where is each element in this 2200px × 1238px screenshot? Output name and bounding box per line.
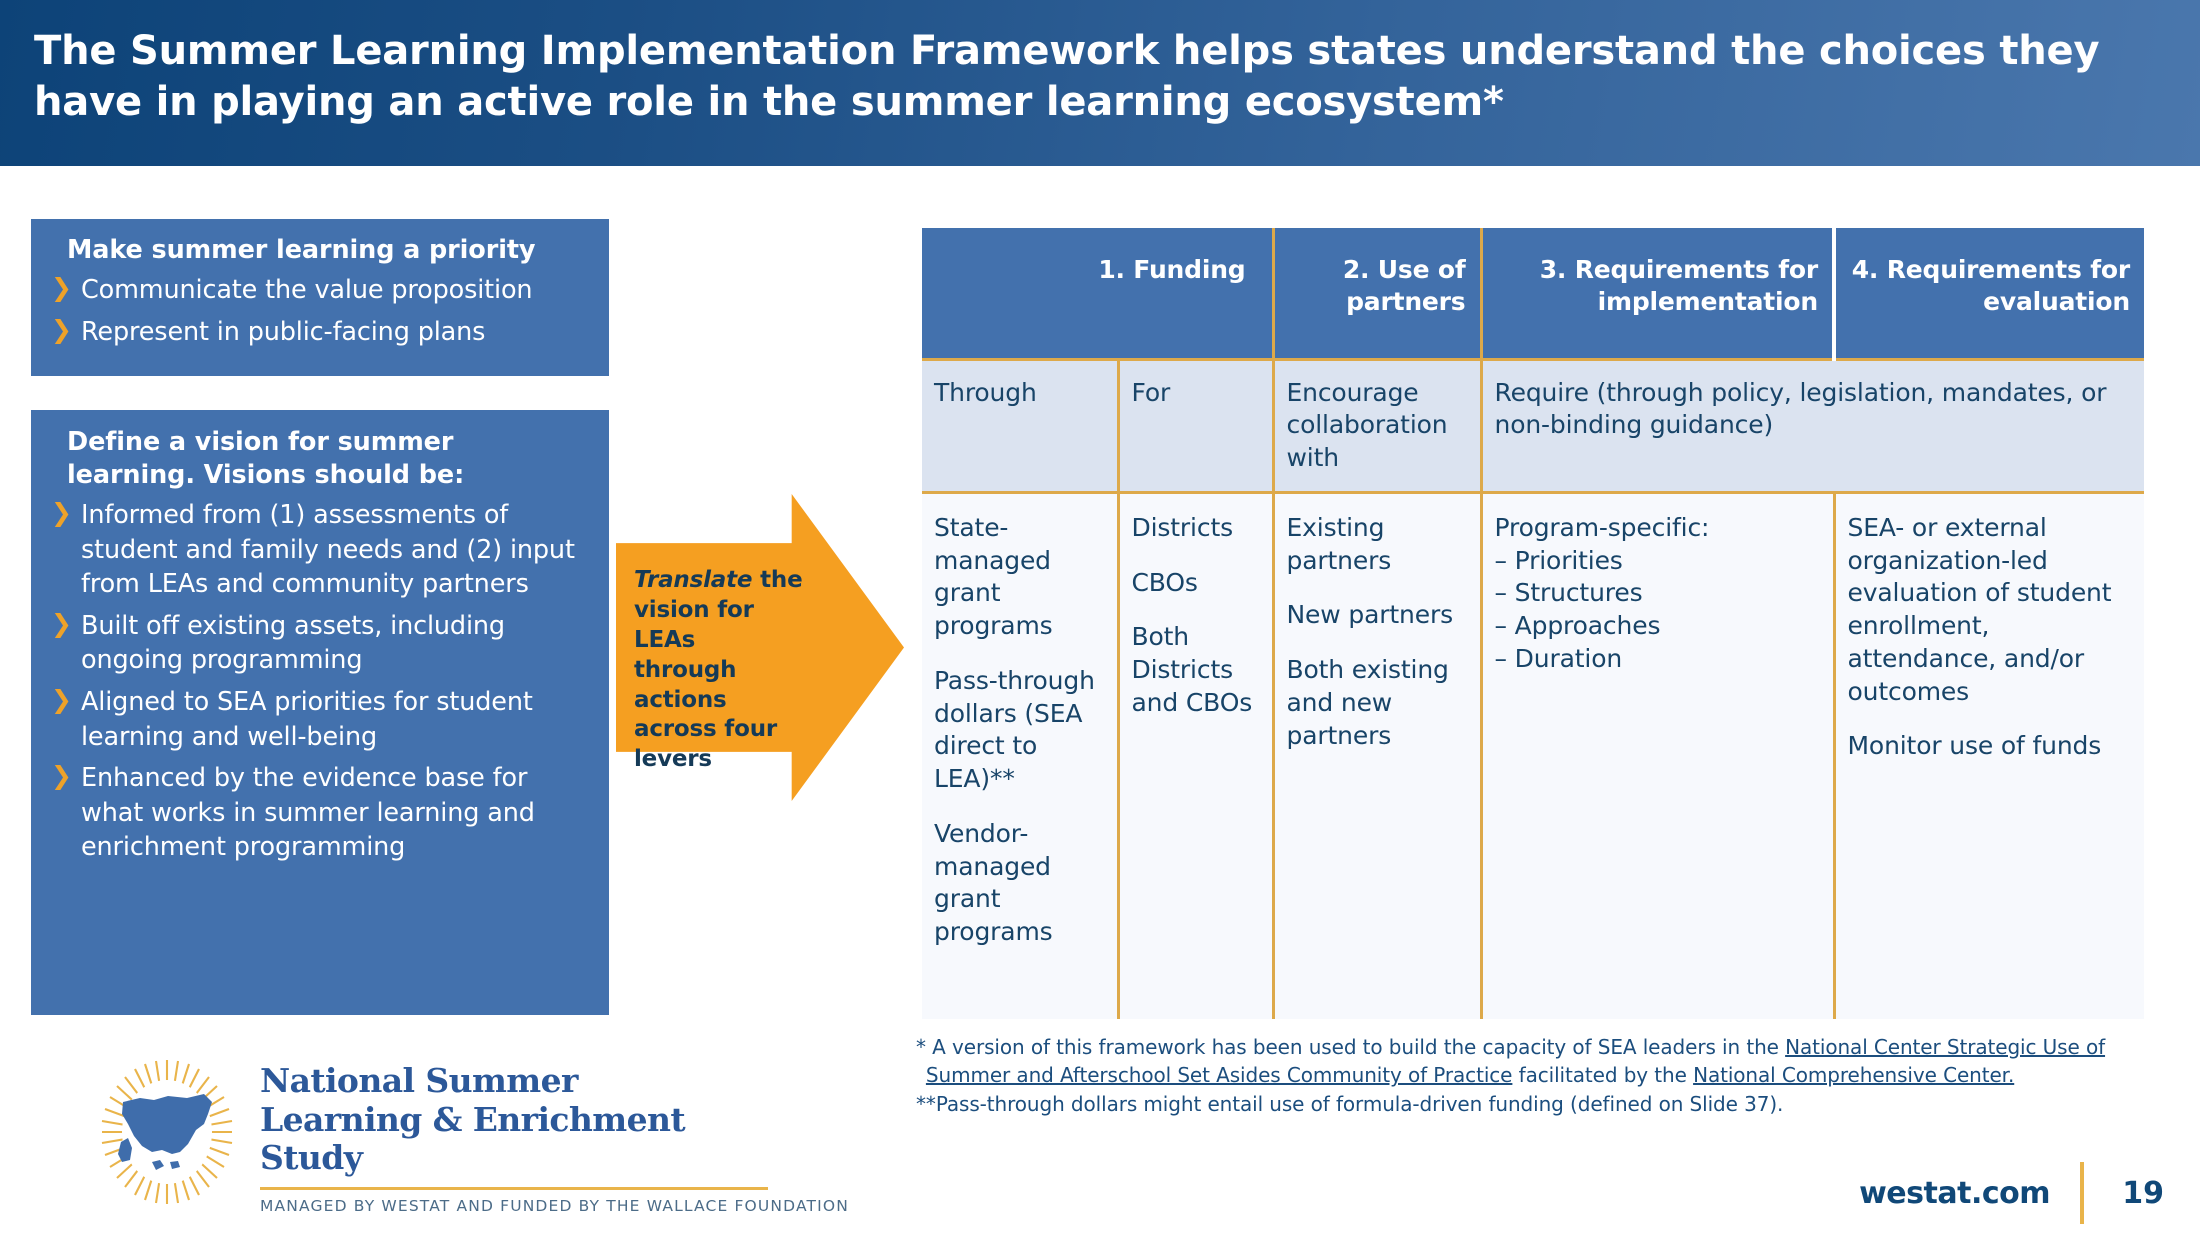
vision-box-heading: Define a vision for summer learning. Vis…	[67, 426, 589, 492]
vision-callout-box: Define a vision for summer learning. Vis…	[31, 410, 609, 1015]
list-item-label: Aligned to SEA priorities for student le…	[81, 687, 533, 752]
priority-box-heading: Make summer learning a priority	[67, 234, 589, 267]
list-item: ❯ Represent in public-facing plans	[51, 315, 589, 350]
recipient-option-1: Districts	[1132, 513, 1233, 542]
cell-funding-for-options: Districts CBOs Both Districts and CBOs	[1118, 492, 1273, 1019]
funding-option-3: Vendor-managed grant programs	[934, 819, 1053, 946]
table-header-funding: 1. Funding	[922, 228, 1273, 359]
chevron-right-icon: ❯	[51, 762, 69, 790]
list-item-label: Represent in public-facing plans	[81, 317, 485, 347]
spacer	[934, 643, 1105, 665]
cell-for: For	[1118, 359, 1273, 492]
spacer	[1132, 545, 1260, 567]
evaluation-text-1: SEA- or external organization-led evalua…	[1848, 513, 2112, 706]
footnote-double-asterisk: ** Pass-through dollars might entail use…	[916, 1090, 2146, 1118]
list-item-label: Enhanced by the evidence base for what w…	[81, 763, 535, 862]
cell-funding-through-options: State-managed grant programs Pass-throug…	[922, 492, 1118, 1019]
list-item: – Duration	[1495, 643, 1821, 676]
footnotes-block: * A version of this framework has been u…	[916, 1033, 2146, 1118]
cell-implementation-requirements: Program-specific: – Priorities – Structu…	[1481, 492, 1834, 1019]
footnote-marker: *	[916, 1033, 926, 1090]
table-row: State-managed grant programs Pass-throug…	[922, 492, 2144, 1019]
implementation-item-list: – Priorities – Structures – Approaches –…	[1495, 545, 1821, 676]
list-item-label: Built off existing assets, including ong…	[81, 611, 505, 676]
priority-bullet-list: ❯ Communicate the value proposition ❯ Re…	[51, 273, 589, 349]
footnote-text: A version of this framework has been use…	[926, 1033, 2146, 1090]
logo-line-2: Learning & Enrichment Study	[260, 1101, 770, 1178]
footnote-lead-text: A version of this framework has been use…	[932, 1035, 1785, 1059]
cell-require: Require (through policy, legislation, ma…	[1481, 359, 2144, 492]
chevron-right-icon: ❯	[51, 316, 69, 344]
list-item: ❯ Enhanced by the evidence base for what…	[51, 761, 589, 865]
chevron-right-icon: ❯	[51, 686, 69, 714]
slide-number: 19	[2122, 1176, 2164, 1211]
arrow-rest-text: the vision for LEAs through actions acro…	[634, 567, 802, 772]
cell-evaluation-requirements: SEA- or external organization-led evalua…	[1834, 492, 2144, 1019]
spacer	[1848, 708, 2133, 730]
cell-encourage: Encourage collaboration with	[1273, 359, 1481, 492]
logo-tagline: MANAGED BY WESTAT AND FUNDED BY THE WALL…	[260, 1197, 770, 1215]
slide-footer: westat.com 19	[1859, 1162, 2164, 1224]
list-item: ❯ Communicate the value proposition	[51, 273, 589, 308]
footnote-link-comprehensive-center[interactable]: National Comprehensive Center.	[1693, 1063, 2014, 1087]
table-row: Through For Encourage collaboration with…	[922, 359, 2144, 492]
funding-option-2: Pass-through dollars (SEA direct to LEA)…	[934, 666, 1095, 793]
logo-wordmark: National Summer Learning & Enrichment St…	[260, 1062, 770, 1215]
spacer	[1132, 599, 1260, 621]
cell-through: Through	[922, 359, 1118, 492]
chevron-right-icon: ❯	[51, 274, 69, 302]
table-header-requirements-implementation: 3. Requirements for implementation	[1481, 228, 1834, 359]
footer-divider	[2080, 1162, 2084, 1224]
framework-levers-table: 1. Funding 2. Use of partners 3. Require…	[922, 228, 2144, 1019]
recipient-option-2: CBOs	[1132, 568, 1198, 597]
cell-partner-options: Existing partners New partners Both exis…	[1273, 492, 1481, 1019]
page-title: The Summer Learning Implementation Frame…	[34, 26, 2144, 128]
table-header-row: 1. Funding 2. Use of partners 3. Require…	[922, 228, 2144, 359]
partner-option-1: Existing partners	[1287, 513, 1392, 575]
recipient-option-3: Both Districts and CBOs	[1132, 622, 1253, 717]
partner-option-2: New partners	[1287, 600, 1453, 629]
arrow-label: Translate the vision for LEAs through ac…	[634, 566, 804, 775]
footnote-mid-text: facilitated by the	[1512, 1063, 1693, 1087]
westat-url-link[interactable]: westat.com	[1859, 1176, 2050, 1211]
list-item: – Structures	[1495, 577, 1821, 610]
implementation-intro: Program-specific:	[1495, 513, 1710, 542]
list-item: ❯ Informed from (1) assessments of stude…	[51, 498, 589, 602]
list-item: – Priorities	[1495, 545, 1821, 578]
list-item-label: Informed from (1) assessments of student…	[81, 500, 575, 599]
list-item: ❯ Aligned to SEA priorities for student …	[51, 685, 589, 754]
vision-bullet-list: ❯ Informed from (1) assessments of stude…	[51, 498, 589, 864]
logo-line-1: National Summer	[260, 1062, 770, 1101]
logo-divider	[260, 1187, 768, 1190]
slide-title-banner: The Summer Learning Implementation Frame…	[0, 0, 2200, 166]
spacer	[934, 796, 1105, 818]
chevron-right-icon: ❯	[51, 499, 69, 527]
spacer	[1287, 632, 1468, 654]
footnote-single-asterisk: * A version of this framework has been u…	[916, 1033, 2146, 1090]
funding-option-1: State-managed grant programs	[934, 513, 1053, 640]
evaluation-text-2: Monitor use of funds	[1848, 731, 2102, 760]
spacer	[1287, 577, 1468, 599]
table-header-requirements-evaluation: 4. Requirements for evaluation	[1834, 228, 2144, 359]
list-item: ❯ Built off existing assets, including o…	[51, 609, 589, 678]
footnote-marker: **	[916, 1090, 936, 1118]
priority-callout-box: Make summer learning a priority ❯ Commun…	[31, 219, 609, 376]
usa-map-sunburst-logo-icon	[92, 1058, 242, 1206]
translate-arrow: Translate the vision for LEAs through ac…	[616, 494, 904, 801]
chevron-right-icon: ❯	[51, 610, 69, 638]
partner-option-3: Both existing and new partners	[1287, 655, 1449, 750]
list-item-label: Communicate the value proposition	[81, 275, 532, 305]
list-item: – Approaches	[1495, 610, 1821, 643]
study-logo: National Summer Learning & Enrichment St…	[92, 1058, 772, 1208]
arrow-emphasis-word: Translate	[634, 567, 752, 593]
table-header-use-of-partners: 2. Use of partners	[1273, 228, 1481, 359]
footnote-text: Pass-through dollars might entail use of…	[936, 1090, 2146, 1118]
